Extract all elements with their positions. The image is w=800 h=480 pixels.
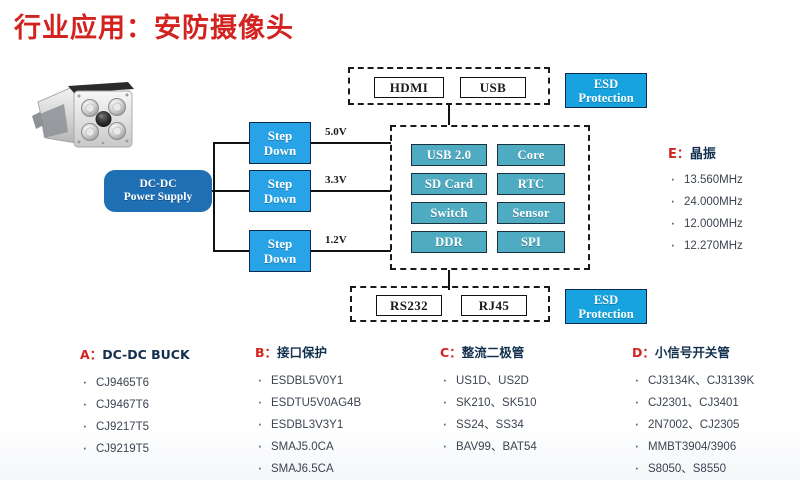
- list-item: 2N7002、CJ2305: [632, 414, 754, 436]
- stepdown-1v2-line1: Step: [268, 236, 293, 251]
- esd-bottom-line1: ESD: [594, 293, 618, 307]
- voltage-label-3v3: 3.3V: [325, 174, 347, 186]
- section-d-heading: D：小信号开关管: [632, 342, 754, 361]
- psu-line2: Power Supply: [124, 191, 192, 204]
- stepdown-5v-line1: Step: [268, 128, 293, 143]
- wire-branch-5v: [213, 142, 249, 144]
- stepdown-5v-line2: Down: [264, 143, 297, 158]
- soc-block-spi[interactable]: SPI: [497, 231, 565, 253]
- psu-line1: DC-DC: [139, 178, 176, 191]
- list-item: 24.000MHz: [668, 191, 743, 213]
- list-item: CJ9217T5: [80, 416, 190, 438]
- list-item: US1D、US2D: [440, 370, 537, 392]
- section-crystal-sep: ：: [677, 147, 690, 162]
- step-down-1v2[interactable]: Step Down: [249, 230, 311, 272]
- wire-out-5v: [311, 142, 391, 144]
- section-c-list: US1D、US2D SK210、SK510 SS24、SS34 BAV99、BA…: [440, 370, 537, 458]
- esd-protection-top[interactable]: ESD Protection: [565, 73, 647, 108]
- section-crystal-letter: E: [668, 147, 677, 162]
- soc-block-switch[interactable]: Switch: [411, 202, 487, 224]
- step-down-3v3[interactable]: Step Down: [249, 170, 311, 212]
- section-b-heading: B：接口保护: [255, 342, 361, 361]
- list-item: CJ9467T6: [80, 394, 190, 416]
- section-b-letter: B: [255, 345, 265, 360]
- page-title: 行业应用：安防摄像头: [14, 12, 294, 46]
- wire-vertical-bus: [213, 142, 215, 252]
- soc-block-core[interactable]: Core: [497, 144, 565, 166]
- section-a-list: CJ9465T6 CJ9467T6 CJ9217T5 CJ9219T5: [80, 372, 190, 460]
- list-item: SK210、SK510: [440, 392, 537, 414]
- interface-hdmi[interactable]: HDMI: [374, 77, 444, 98]
- slide-canvas: 行业应用：安防摄像头: [0, 0, 800, 480]
- esd-protection-bottom[interactable]: ESD Protection: [565, 289, 647, 324]
- list-item: 12.000MHz: [668, 213, 743, 235]
- interface-rj45[interactable]: RJ45: [461, 295, 527, 316]
- stepdown-3v3-line2: Down: [264, 191, 297, 206]
- section-c-sep: ：: [449, 345, 462, 360]
- section-d-list: CJ3134K、CJ3139K CJ2301、CJ3401 2N7002、CJ2…: [632, 370, 754, 480]
- list-item: S8050、S8550: [632, 458, 754, 480]
- section-b-list: ESDBL5V0Y1 ESDTU5V0AG4B ESDBL3V3Y1 SMAJ5…: [255, 370, 361, 480]
- section-d: D：小信号开关管 CJ3134K、CJ3139K CJ2301、CJ3401 2…: [632, 342, 754, 480]
- section-d-sep: ：: [642, 345, 655, 360]
- section-crystal-heading: E：晶振: [668, 143, 743, 162]
- section-c-heading: C：整流二极管: [440, 342, 537, 361]
- soc-block-sdcard[interactable]: SD Card: [411, 173, 487, 195]
- section-b-sep: ：: [265, 345, 278, 360]
- wire-out-3v3: [311, 190, 391, 192]
- wire-soc-to-top: [448, 105, 450, 125]
- section-crystal-name: 晶振: [690, 147, 716, 162]
- security-camera-image: [24, 62, 142, 167]
- section-b-name: 接口保护: [277, 345, 327, 360]
- component-legend: A：DC-DC BUCK CJ9465T6 CJ9467T6 CJ9217T5 …: [0, 336, 800, 480]
- list-item: CJ3134K、CJ3139K: [632, 370, 754, 392]
- stepdown-1v2-line2: Down: [264, 251, 297, 266]
- list-item: 13.560MHz: [668, 169, 743, 191]
- soc-block-rtc[interactable]: RTC: [497, 173, 565, 195]
- section-c: C：整流二极管 US1D、US2D SK210、SK510 SS24、SS34 …: [440, 342, 537, 458]
- section-c-letter: C: [440, 345, 449, 360]
- section-a-name: DC-DC BUCK: [102, 347, 189, 362]
- list-item: ESDTU5V0AG4B: [255, 392, 361, 414]
- list-item: BAV99、BAT54: [440, 436, 537, 458]
- list-item: MMBT3904/3906: [632, 436, 754, 458]
- list-item: ESDBL3V3Y1: [255, 414, 361, 436]
- esd-top-line1: ESD: [594, 77, 618, 91]
- section-a-heading: A：DC-DC BUCK: [80, 344, 190, 363]
- wire-branch-1v2: [213, 250, 249, 252]
- dc-dc-power-supply[interactable]: DC-DC Power Supply: [104, 170, 212, 212]
- soc-block-sensor[interactable]: Sensor: [497, 202, 565, 224]
- wire-branch-3v3: [213, 190, 249, 192]
- stepdown-3v3-line1: Step: [268, 176, 293, 191]
- section-a: A：DC-DC BUCK CJ9465T6 CJ9467T6 CJ9217T5 …: [80, 344, 190, 460]
- section-crystal: E：晶振 13.560MHz 24.000MHz 12.000MHz 12.27…: [668, 143, 743, 257]
- section-crystal-list: 13.560MHz 24.000MHz 12.000MHz 12.270MHz: [668, 169, 743, 257]
- list-item: SMAJ6.5CA: [255, 458, 361, 480]
- voltage-label-5v: 5.0V: [325, 126, 347, 138]
- soc-block-usb20[interactable]: USB 2.0: [411, 144, 487, 166]
- section-d-name: 小信号开关管: [655, 345, 730, 360]
- esd-bottom-line2: Protection: [578, 307, 633, 321]
- list-item: CJ2301、CJ3401: [632, 392, 754, 414]
- interface-usb[interactable]: USB: [460, 77, 526, 98]
- section-d-letter: D: [632, 345, 642, 360]
- wire-out-1v2: [311, 250, 391, 252]
- step-down-5v[interactable]: Step Down: [249, 122, 311, 164]
- list-item: 12.270MHz: [668, 235, 743, 257]
- list-item: SMAJ5.0CA: [255, 436, 361, 458]
- list-item: CJ9465T6: [80, 372, 190, 394]
- section-a-sep: ：: [90, 347, 103, 362]
- soc-block-ddr[interactable]: DDR: [411, 231, 487, 253]
- interface-rs232[interactable]: RS232: [376, 295, 442, 316]
- section-b: B：接口保护 ESDBL5V0Y1 ESDTU5V0AG4B ESDBL3V3Y…: [255, 342, 361, 480]
- list-item: SS24、SS34: [440, 414, 537, 436]
- voltage-label-1v2: 1.2V: [325, 234, 347, 246]
- esd-top-line2: Protection: [578, 91, 633, 105]
- section-c-name: 整流二极管: [462, 345, 525, 360]
- list-item: ESDBL5V0Y1: [255, 370, 361, 392]
- section-a-letter: A: [80, 347, 90, 362]
- list-item: CJ9219T5: [80, 438, 190, 460]
